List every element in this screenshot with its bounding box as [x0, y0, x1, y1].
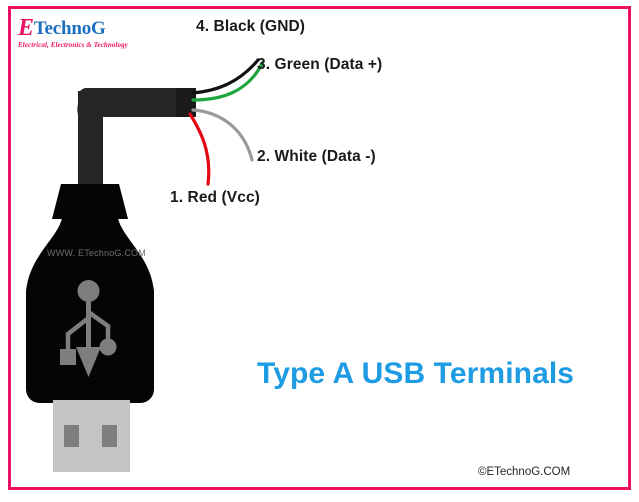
usb-diagram-canvas: ETechnoG Electrical, Electronics & Techn…: [0, 0, 639, 502]
wire-black: [193, 60, 258, 93]
usb-contact-slot-left: [64, 425, 79, 447]
connector-watermark: WWW. ETechnoG.COM: [47, 248, 146, 258]
wire-label-black: 4. Black (GND): [196, 18, 305, 36]
brand-logo: ETechnoG Electrical, Electronics & Techn…: [18, 16, 128, 49]
brand-logo-initial: E: [18, 15, 34, 41]
brand-logo-name: ETechnoG: [18, 16, 128, 40]
copyright-notice: ©ETechnoG.COM: [478, 466, 570, 478]
wire-label-white: 2. White (Data -): [257, 148, 376, 166]
brand-logo-tagline: Electrical, Electronics & Technology: [18, 42, 128, 49]
usb-contact-slot-right: [102, 425, 117, 447]
brand-logo-wordmark: TechnoG: [34, 18, 106, 39]
wire-red: [190, 114, 209, 184]
usb-cable: [77, 88, 193, 188]
wire-label-red: 1. Red (Vcc): [170, 189, 260, 207]
wire-label-green: 3. Green (Data +): [257, 56, 382, 74]
figure-title: Type A USB Terminals: [257, 357, 574, 391]
